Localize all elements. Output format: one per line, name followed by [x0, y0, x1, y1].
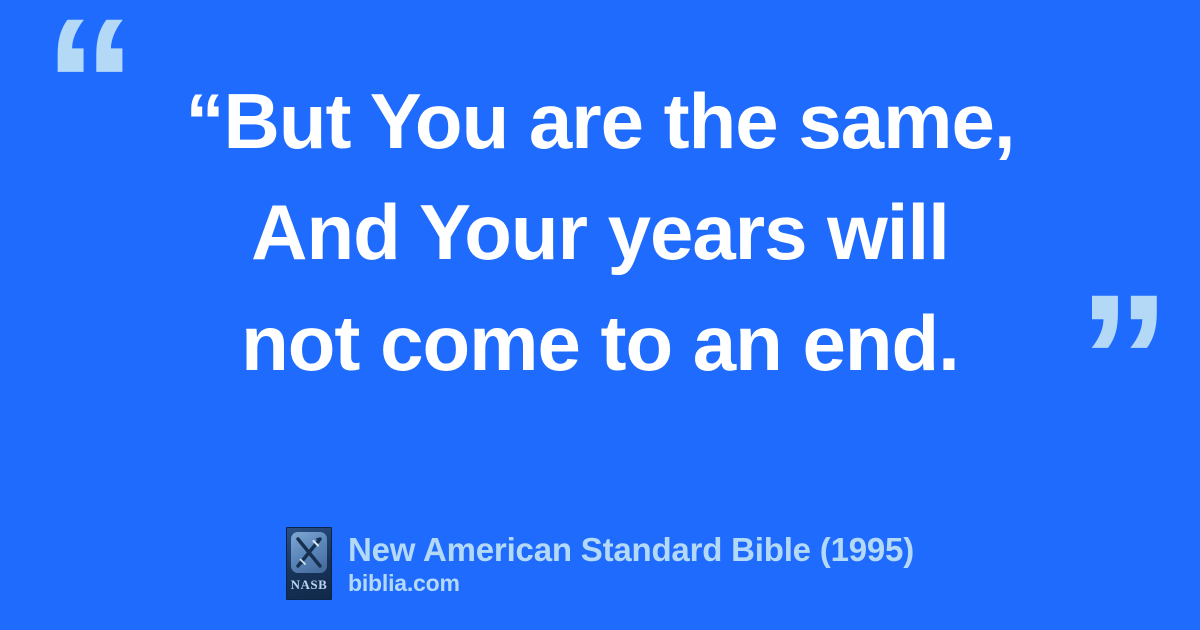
attribution-footer: NASB New American Standard Bible (1995) … — [0, 527, 1200, 600]
bible-version-title: New American Standard Bible (1995) — [348, 531, 914, 569]
quote-line: not come to an end. — [60, 288, 1140, 399]
nasb-emblem-icon — [291, 532, 327, 573]
source-site-label[interactable]: biblia.com — [348, 569, 914, 597]
bible-verse-card: “ ” “But You are the same, And Your year… — [0, 0, 1200, 630]
attribution-text: New American Standard Bible (1995) bibli… — [348, 531, 914, 597]
quote-line: “But You are the same, — [60, 66, 1140, 177]
nasb-logo-icon: NASB — [286, 527, 332, 600]
quote-line: And Your years will — [60, 177, 1140, 288]
nasb-wordmark: NASB — [291, 577, 328, 592]
attribution-inner: NASB New American Standard Bible (1995) … — [286, 527, 914, 600]
quote-block: “But You are the same, And Your years wi… — [0, 66, 1200, 399]
